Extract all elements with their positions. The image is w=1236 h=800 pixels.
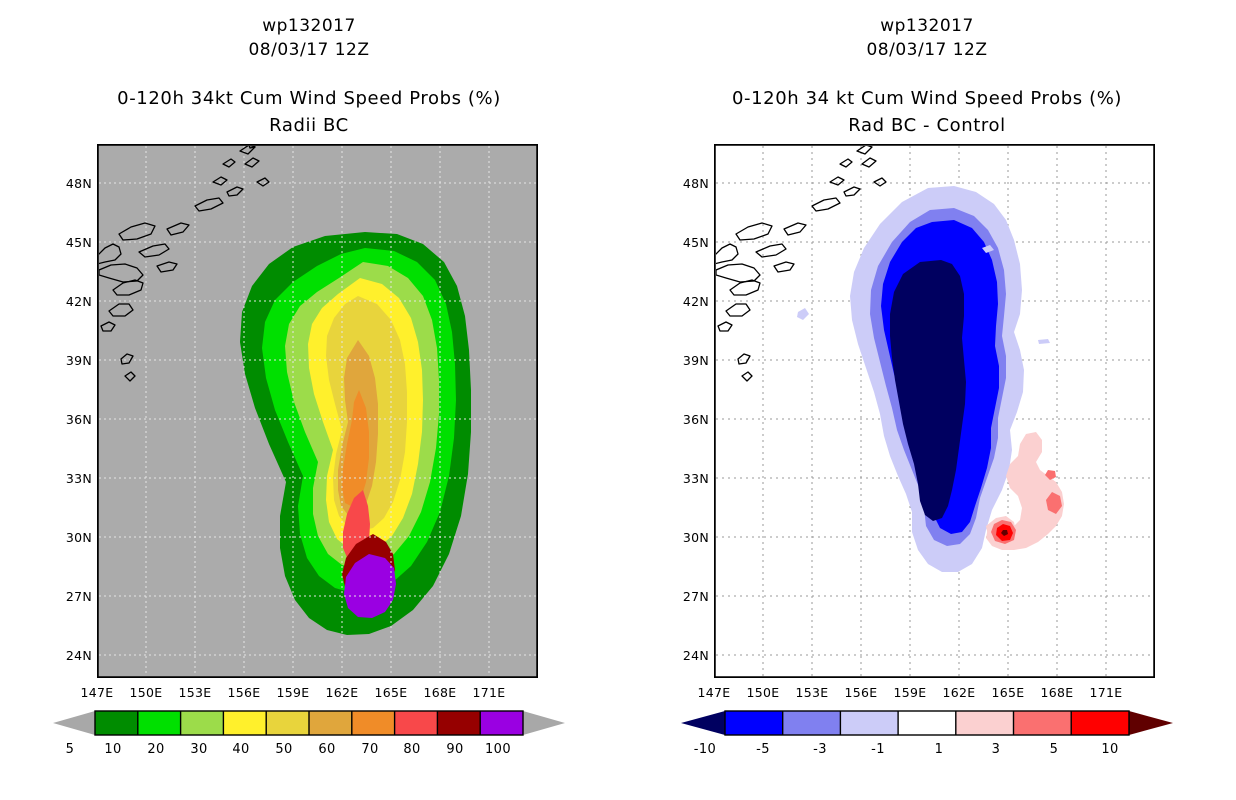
colorbar-difference-tick-3: -1 bbox=[853, 742, 903, 757]
map-radii-bc: 48N 45N 42N 39N 36N 33N 30N 27N 24N 147E… bbox=[97, 144, 538, 678]
colorbar-difference-tick-7: 10 bbox=[1085, 742, 1135, 757]
ytick-label-right-7: 27N bbox=[669, 589, 709, 604]
panel-right-storm-id: wp132017 bbox=[618, 16, 1236, 36]
colorbar-difference-svg bbox=[657, 706, 1197, 740]
ytick-label-left-6: 30N bbox=[52, 530, 92, 545]
xtick-label-left-1: 150E bbox=[126, 685, 166, 700]
ytick-label-right-4: 36N bbox=[669, 412, 709, 427]
xtick-label-right-5: 162E bbox=[939, 685, 979, 700]
colorbar-probability-tick-6: 60 bbox=[312, 742, 342, 757]
ytick-label-right-2: 42N bbox=[669, 294, 709, 309]
colorbar-probability: 5 10 20 30 40 50 60 70 80 90 100 bbox=[0, 706, 618, 776]
ytick-label-left-2: 42N bbox=[52, 294, 92, 309]
xtick-label-left-2: 153E bbox=[175, 685, 215, 700]
colorbar-diff-over-arrow bbox=[1129, 711, 1173, 735]
colorbar-diff-under-arrow bbox=[681, 711, 725, 735]
xtick-label-right-0: 147E bbox=[694, 685, 734, 700]
colorbar-under-arrow bbox=[53, 711, 95, 735]
map-rad-bc-minus-control: 48N 45N 42N 39N 36N 33N 30N 27N 24N 147E… bbox=[714, 144, 1155, 678]
colorbar-probability-tick-4: 40 bbox=[226, 742, 256, 757]
colorbar-probability-tick-9: 90 bbox=[440, 742, 470, 757]
ytick-label-left-3: 39N bbox=[52, 353, 92, 368]
colorbar-difference-tick-0: -10 bbox=[680, 742, 730, 757]
colorbar-difference-tick-2: -3 bbox=[795, 742, 845, 757]
ytick-label-right-6: 30N bbox=[669, 530, 709, 545]
ytick-label-left-5: 33N bbox=[52, 471, 92, 486]
ytick-label-right-5: 33N bbox=[669, 471, 709, 486]
ytick-label-right-0: 48N bbox=[669, 176, 709, 191]
ytick-label-left-8: 24N bbox=[52, 648, 92, 663]
xtick-label-right-8: 171E bbox=[1086, 685, 1126, 700]
ytick-label-right-8: 24N bbox=[669, 648, 709, 663]
colorbar-probability-tick-1: 10 bbox=[98, 742, 128, 757]
colorbar-difference-segments bbox=[725, 711, 1129, 735]
ytick-label-left-4: 36N bbox=[52, 412, 92, 427]
panel-left-subtitle: Radii BC bbox=[0, 115, 618, 136]
colorbar-probability-tick-8: 80 bbox=[397, 742, 427, 757]
colorbar-probability-tick-5: 50 bbox=[269, 742, 299, 757]
colorbar-probability-tick-3: 30 bbox=[184, 742, 214, 757]
ytick-label-right-1: 45N bbox=[669, 235, 709, 250]
xtick-label-right-7: 168E bbox=[1037, 685, 1077, 700]
map-svg-left bbox=[97, 144, 538, 678]
panel-right-datetime: 08/03/17 12Z bbox=[618, 40, 1236, 60]
ytick-label-right-3: 39N bbox=[669, 353, 709, 368]
colorbar-difference-tick-4: 1 bbox=[914, 742, 964, 757]
colorbar-probability-tick-7: 70 bbox=[355, 742, 385, 757]
panel-right-subtitle: Rad BC - Control bbox=[618, 115, 1236, 136]
colorbar-probability-tick-0: 5 bbox=[55, 742, 85, 757]
panel-rad-bc-minus-control: wp132017 08/03/17 12Z 0-120h 34 kt Cum W… bbox=[618, 0, 1236, 800]
xtick-label-left-0: 147E bbox=[77, 685, 117, 700]
panel-left-product-title: 0-120h 34kt Cum Wind Speed Probs (%) bbox=[0, 88, 618, 109]
xtick-label-left-4: 159E bbox=[273, 685, 313, 700]
xtick-label-left-7: 168E bbox=[420, 685, 460, 700]
xtick-label-right-2: 153E bbox=[792, 685, 832, 700]
xtick-label-left-6: 165E bbox=[371, 685, 411, 700]
colorbar-probability-tick-2: 20 bbox=[141, 742, 171, 757]
colorbar-difference-tick-1: -5 bbox=[738, 742, 788, 757]
xtick-label-right-3: 156E bbox=[841, 685, 881, 700]
xtick-label-right-1: 150E bbox=[743, 685, 783, 700]
ytick-label-left-1: 45N bbox=[52, 235, 92, 250]
panel-left-storm-id: wp132017 bbox=[0, 16, 618, 36]
ytick-label-left-7: 27N bbox=[52, 589, 92, 604]
colorbar-difference: -10 -5 -3 -1 1 3 5 10 bbox=[618, 706, 1236, 776]
ytick-label-left-0: 48N bbox=[52, 176, 92, 191]
colorbar-probability-tick-10: 100 bbox=[481, 742, 515, 757]
colorbar-difference-tick-6: 5 bbox=[1029, 742, 1079, 757]
panel-right-product-title: 0-120h 34 kt Cum Wind Speed Probs (%) bbox=[618, 88, 1236, 109]
panel-left-datetime: 08/03/17 12Z bbox=[0, 40, 618, 60]
xtick-label-left-5: 162E bbox=[322, 685, 362, 700]
xtick-label-right-4: 159E bbox=[890, 685, 930, 700]
xtick-label-right-6: 165E bbox=[988, 685, 1028, 700]
colorbar-over-arrow bbox=[523, 711, 565, 735]
colorbar-difference-tick-5: 3 bbox=[971, 742, 1021, 757]
xtick-label-left-3: 156E bbox=[224, 685, 264, 700]
colorbar-probability-svg bbox=[39, 706, 579, 740]
map-svg-right bbox=[714, 144, 1155, 678]
panel-radii-bc: wp132017 08/03/17 12Z 0-120h 34kt Cum Wi… bbox=[0, 0, 618, 800]
xtick-label-left-8: 171E bbox=[469, 685, 509, 700]
